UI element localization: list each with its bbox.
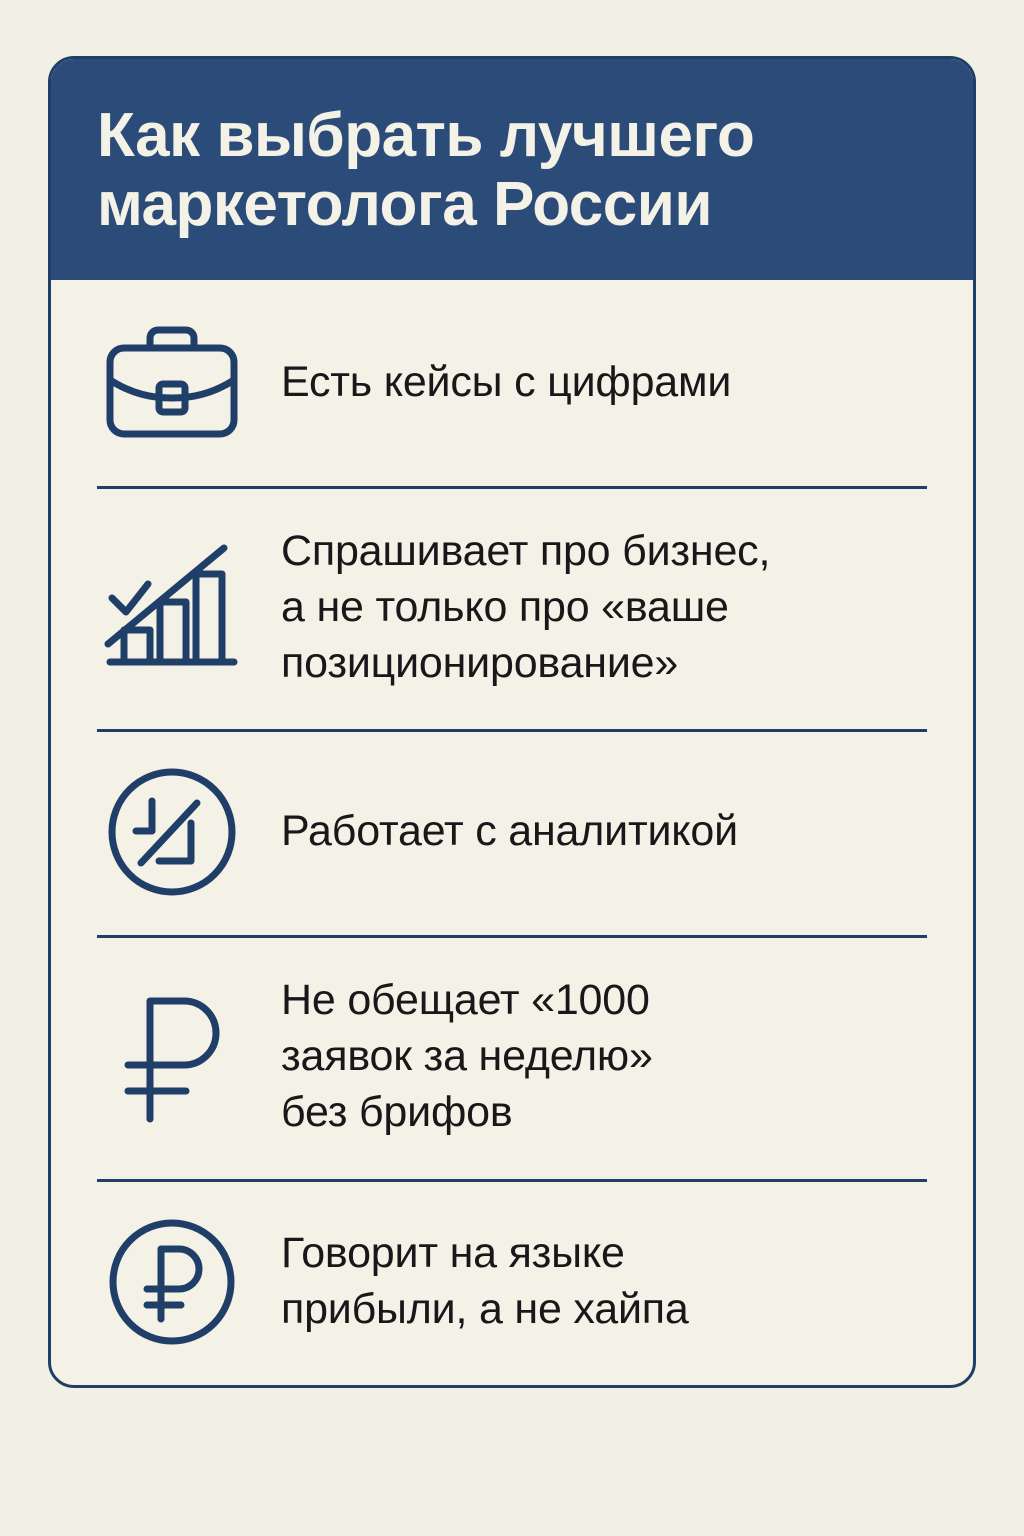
- page-title: Как выбрать лучшего маркетолога России: [97, 101, 927, 240]
- infographic-page: Как выбрать лучшего маркетолога России Е…: [0, 0, 1024, 1536]
- list-item-label: Не обещает «1000 заявок за неделю» без б…: [281, 973, 927, 1141]
- list-item-label: Есть кейсы с цифрами: [281, 355, 927, 411]
- list-item-label: Работает с аналитикой: [281, 804, 927, 860]
- list-item[interactable]: Спрашивает про бизнес, а не только про «…: [97, 486, 927, 730]
- list-item[interactable]: Есть кейсы с цифрами: [97, 280, 927, 486]
- briefcase-icon: [97, 318, 247, 448]
- checklist-card: Как выбрать лучшего маркетолога России Е…: [48, 56, 976, 1388]
- ruble-icon: [97, 992, 247, 1122]
- list-item[interactable]: Не обещает «1000 заявок за неделю» без б…: [97, 935, 927, 1179]
- checklist: Есть кейсы с цифрами Спрашивает про бизн…: [51, 280, 973, 1385]
- analytics-circle-icon: [97, 767, 247, 897]
- bar-chart-growth-check-icon: [97, 543, 247, 673]
- list-item[interactable]: Работает с аналитикой: [97, 729, 927, 935]
- list-item[interactable]: Говорит на языке прибыли, а не хайпа: [97, 1179, 927, 1385]
- ruble-coin-icon: [97, 1217, 247, 1347]
- list-item-label: Говорит на языке прибыли, а не хайпа: [281, 1226, 927, 1338]
- list-item-label: Спрашивает про бизнес, а не только про «…: [281, 524, 927, 692]
- card-header: Как выбрать лучшего маркетолога России: [51, 59, 973, 280]
